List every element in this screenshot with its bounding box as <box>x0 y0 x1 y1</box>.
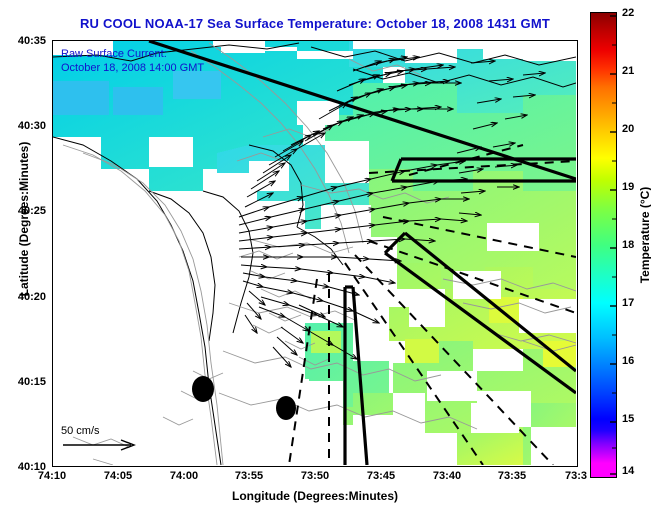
colorbar-tick-label: 17 <box>622 297 634 309</box>
x-tick-label: 73:50 <box>285 470 345 482</box>
colorbar-tick-label: 22 <box>622 7 634 19</box>
colorbar-tick-label: 15 <box>622 413 634 425</box>
map-plot-area: Raw Surface Current: October 18, 2008 14… <box>52 40 578 467</box>
colorbar-title: Temperature (°C) <box>638 135 651 335</box>
y-tick-label: 40:35 <box>0 35 46 47</box>
colorbar-tick-label: 20 <box>622 123 634 135</box>
y-tick-label: 40:15 <box>0 376 46 388</box>
y-axis-title: Latitude (Degrees:Minutes) <box>17 109 31 329</box>
colorbar-tick-label: 14 <box>622 465 634 477</box>
colorbar-tick-label: 21 <box>622 65 634 77</box>
annotation-line-1: Raw Surface Current: <box>61 47 204 61</box>
x-tick-label: 73:40 <box>417 470 477 482</box>
x-axis-title: Longitude (Degrees:Minutes) <box>52 489 578 503</box>
x-tick-label: 74:00 <box>154 470 214 482</box>
x-tick-label: 74:05 <box>88 470 148 482</box>
x-tick-label: 74:10 <box>22 470 82 482</box>
scale-bar-arrow-icon <box>61 438 139 452</box>
colorbar-ticks <box>590 12 617 478</box>
scale-bar: 50 cm/s <box>61 425 171 452</box>
colorbar-tick-label: 19 <box>622 181 634 193</box>
x-tick-label: 73:35 <box>482 470 542 482</box>
x-tick-label: 73:45 <box>351 470 411 482</box>
page-title: RU COOL NOAA-17 Sea Surface Temperature:… <box>52 16 578 31</box>
annotation-block: Raw Surface Current: October 18, 2008 14… <box>61 47 204 75</box>
station-marker <box>192 376 214 402</box>
station-marker <box>276 396 296 420</box>
colorbar-tick-label: 18 <box>622 239 634 251</box>
colorbar-tick-label: 16 <box>622 355 634 367</box>
sst-map-canvas <box>53 41 576 465</box>
scale-bar-label: 50 cm/s <box>61 425 171 437</box>
x-tick-label: 73:55 <box>219 470 279 482</box>
annotation-line-2: October 18, 2008 14:00 GMT <box>61 61 204 75</box>
